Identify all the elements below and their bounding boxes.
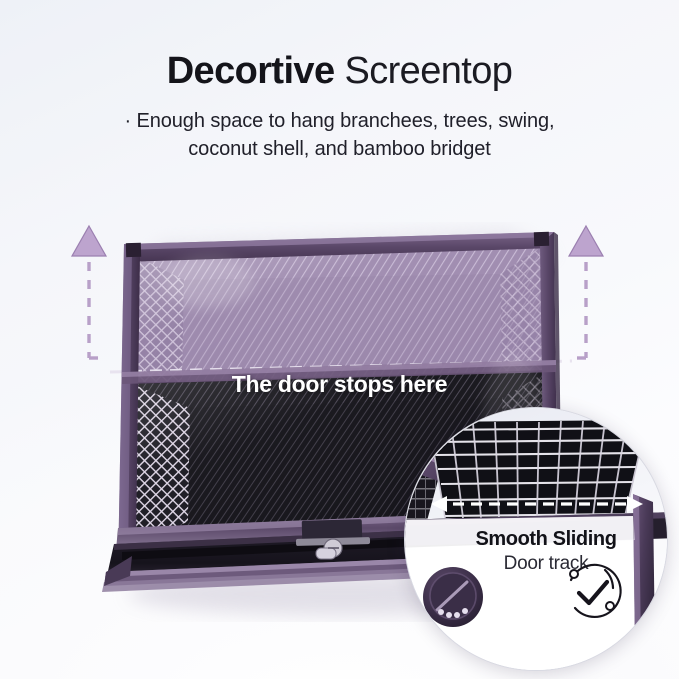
- headline-bold-word: Decortive: [167, 50, 335, 92]
- up-arrow-dashed-left-icon: [66, 224, 112, 369]
- double-arrow-horizontal-icon: [413, 493, 661, 515]
- subheadline-line-1: · Enough space to hang branchees, trees,…: [0, 107, 679, 135]
- headline-block: Decortive Screentop · Enough space to ha…: [0, 50, 679, 163]
- product-infographic: Decortive Screentop · Enough space to ha…: [0, 0, 679, 679]
- detail-zoom-circle: Smooth Sliding Door track: [404, 407, 668, 671]
- up-arrow-dashed-right-icon: [563, 224, 609, 369]
- page-title: Decortive Screentop: [0, 50, 679, 94]
- subheadline: · Enough space to hang branchees, trees,…: [0, 107, 679, 164]
- door-stop-annotation: The door stops here: [0, 371, 679, 398]
- inset-title: Smooth Sliding: [423, 528, 668, 551]
- subheadline-line-2: coconut shell, and bamboo bridget: [0, 135, 679, 163]
- sliding-knob-icon: [417, 560, 489, 632]
- check-circle-icon: [557, 558, 627, 628]
- headline-light-word: Screentop: [344, 50, 512, 92]
